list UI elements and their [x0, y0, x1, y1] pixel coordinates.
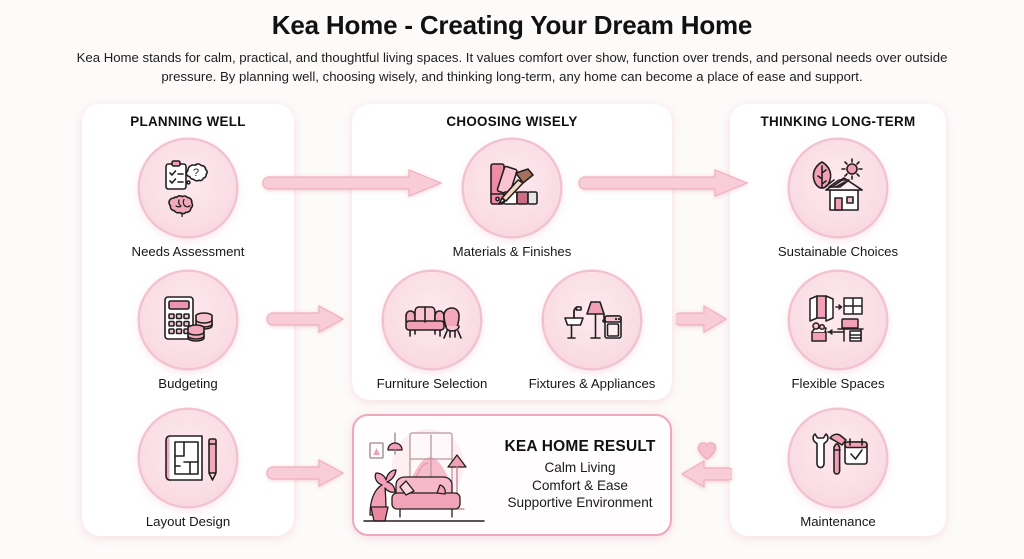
heart-icon — [696, 441, 718, 461]
node-needs-assessment[interactable]: ? Needs Assessment — [82, 140, 294, 259]
arrow-thinking-to-result — [678, 460, 732, 488]
panel-title-choosing-wisely: CHOOSING WISELY — [352, 114, 672, 129]
result-text-block: KEA HOME RESULT Calm Living Comfort & Ea… — [494, 438, 670, 511]
header: Kea Home - Creating Your Dream Home Kea … — [0, 0, 1024, 86]
panel-title-thinking-long-term: THINKING LONG-TERM — [730, 114, 946, 129]
node-label: Materials & Finishes — [352, 244, 672, 259]
node-materials-finishes[interactable]: Materials & Finishes — [352, 140, 672, 259]
node-label: Needs Assessment — [82, 244, 294, 259]
blueprint-pencil-icon — [140, 410, 236, 506]
wrench-hammer-calendar-icon — [790, 410, 886, 506]
arrow-planning-to-choosing-top — [262, 168, 448, 198]
arrow-choosing-to-thinking-top — [578, 168, 754, 198]
sink-lamp-dishwasher-icon — [544, 272, 640, 368]
node-label: Furniture Selection — [352, 376, 512, 391]
result-heading: KEA HOME RESULT — [494, 438, 666, 456]
node-label: Budgeting — [82, 376, 294, 391]
page-subtitle: Kea Home stands for calm, practical, and… — [72, 49, 952, 86]
node-label: Maintenance — [730, 514, 946, 529]
svg-text:?: ? — [193, 167, 199, 179]
page-title: Kea Home - Creating Your Dream Home — [0, 10, 1024, 41]
living-room-scene-icon — [354, 419, 494, 531]
arrow-planning-to-choosing-middle — [266, 304, 348, 334]
node-label: Fixtures & Appliances — [512, 376, 672, 391]
arrow-planning-to-result — [266, 458, 348, 488]
result-line-2: Comfort & Ease — [494, 477, 666, 494]
calculator-coins-icon — [140, 272, 236, 368]
node-budgeting[interactable]: Budgeting — [82, 272, 294, 391]
node-label: Sustainable Choices — [730, 244, 946, 259]
clipboard-brain-question-icon: ? — [140, 140, 236, 236]
node-maintenance[interactable]: Maintenance — [730, 410, 946, 529]
leaf-sun-solar-house-icon — [790, 140, 886, 236]
arrow-thinking-to-choosing-middle — [676, 304, 730, 334]
kea-home-result-box: KEA HOME RESULT Calm Living Comfort & Ea… — [352, 414, 672, 536]
node-label: Flexible Spaces — [730, 376, 946, 391]
node-flexible-spaces[interactable]: Flexible Spaces — [730, 272, 946, 391]
node-furniture-selection[interactable]: Furniture Selection — [352, 272, 512, 391]
sofa-armchair-icon — [384, 272, 480, 368]
node-sustainable-choices[interactable]: Sustainable Choices — [730, 140, 946, 259]
room-divider-desk-icon — [790, 272, 886, 368]
node-label: Layout Design — [82, 514, 294, 529]
result-line-3: Supportive Environment — [494, 494, 666, 511]
node-fixtures-appliances[interactable]: Fixtures & Appliances — [512, 272, 672, 391]
node-layout-design[interactable]: Layout Design — [82, 410, 294, 529]
swatches-brush-icon — [464, 140, 560, 236]
panel-title-planning-well: PLANNING WELL — [82, 114, 294, 129]
result-line-1: Calm Living — [494, 459, 666, 476]
